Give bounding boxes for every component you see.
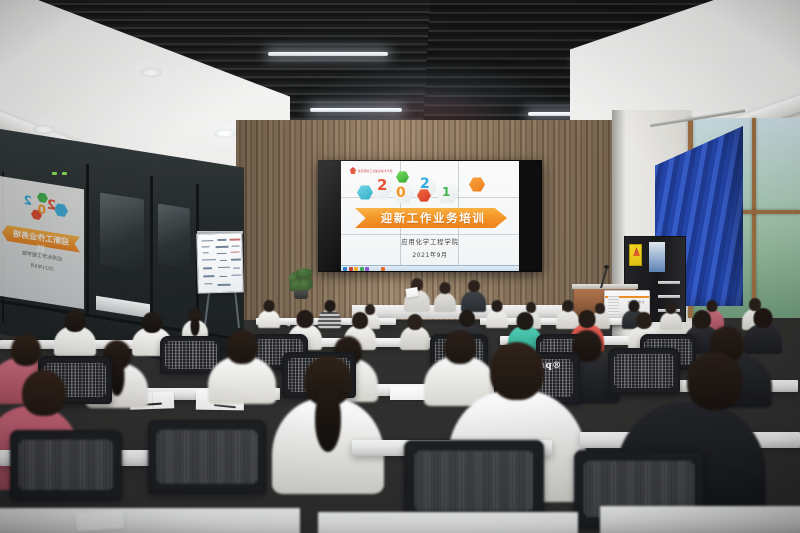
chair-foreground[interactable] bbox=[404, 440, 544, 522]
presentation-slide: 陕西国防工业职业技术学院 2 0 2 1 迎新工作业务培训 bbox=[341, 161, 519, 271]
flipchart-whiteboard[interactable] bbox=[196, 232, 244, 293]
microphone-icon bbox=[604, 265, 609, 269]
cabinet-handle[interactable] bbox=[658, 295, 680, 298]
desk-row-1c bbox=[600, 506, 800, 533]
potted-plant bbox=[286, 266, 316, 298]
chair-foreground[interactable] bbox=[10, 430, 122, 500]
attendee-foreground bbox=[272, 356, 384, 494]
logo-text: 陕西国防工业职业技术学院 bbox=[358, 169, 393, 173]
taskbar-icon[interactable] bbox=[349, 267, 353, 271]
cabinet-handle[interactable] bbox=[658, 281, 680, 284]
paper-sheet bbox=[75, 510, 124, 531]
downlight-icon bbox=[33, 125, 55, 134]
screen-letterbox-left bbox=[319, 161, 341, 271]
plant-pot bbox=[294, 290, 308, 299]
year-graphic-2021: 2 0 2 1 bbox=[341, 173, 519, 207]
chair-foreground[interactable] bbox=[148, 420, 266, 494]
slide-reflection-in-glass: 2 0 2 迎新工作业务培训 应用化学工程学院 2021年9月 bbox=[0, 176, 84, 309]
glass-mullion bbox=[150, 176, 153, 316]
ceiling-light-strip-1 bbox=[268, 52, 388, 56]
taskbar-icon[interactable] bbox=[360, 267, 364, 271]
cabinet-glass-panel bbox=[649, 242, 665, 272]
photo-scene: 2 0 2 迎新工作业务培训 应用化学工程学院 2021年9月 陕西国防工业职业… bbox=[0, 0, 800, 533]
hex-green-icon bbox=[396, 171, 409, 183]
window-frame bbox=[752, 118, 756, 318]
projection-screen[interactable]: 陕西国防工业职业技术学院 2 0 2 1 迎新工作业务培训 bbox=[318, 160, 542, 272]
status-led-icon bbox=[52, 172, 57, 175]
status-led-icon bbox=[62, 172, 67, 175]
taskbar-icon[interactable] bbox=[354, 267, 358, 271]
slide-subtitle-org: 应用化学工程学院 bbox=[341, 237, 519, 246]
attendee bbox=[486, 300, 508, 328]
desk-row-1a bbox=[0, 508, 300, 533]
screen-letterbox-right bbox=[519, 161, 541, 271]
presenter-person bbox=[434, 282, 456, 312]
lectern-top bbox=[572, 284, 638, 289]
year-digit: 2 bbox=[420, 177, 430, 191]
hex-orange-icon bbox=[469, 177, 485, 192]
downlight-icon bbox=[214, 129, 236, 138]
windows-taskbar[interactable] bbox=[341, 265, 519, 271]
attendee bbox=[258, 300, 280, 328]
attendee bbox=[660, 302, 682, 330]
glass-mullion bbox=[86, 164, 89, 316]
slide-title-banner: 迎新工作业务培训 bbox=[355, 208, 507, 228]
glass-reflection bbox=[100, 193, 144, 272]
taskbar-icon[interactable] bbox=[381, 267, 385, 271]
downlight-icon bbox=[140, 68, 162, 77]
glass-reflection bbox=[158, 203, 190, 268]
taskbar-icon[interactable] bbox=[343, 267, 347, 271]
year-digit: 2 bbox=[377, 178, 387, 193]
warning-label-icon bbox=[629, 244, 642, 266]
desk-row-1b bbox=[318, 512, 578, 533]
year-digit: 0 bbox=[396, 186, 406, 200]
paper-sheet bbox=[390, 386, 426, 400]
slide-title-text: 迎新工作业务培训 bbox=[377, 210, 486, 226]
slide-subtitle-date: 2021年9月 bbox=[341, 250, 519, 259]
taskbar-icon[interactable] bbox=[365, 267, 369, 271]
year-digit: 1 bbox=[442, 186, 450, 198]
presenter-person bbox=[461, 280, 486, 312]
attendee bbox=[208, 330, 276, 404]
ceiling-light-strip-3 bbox=[310, 108, 402, 112]
